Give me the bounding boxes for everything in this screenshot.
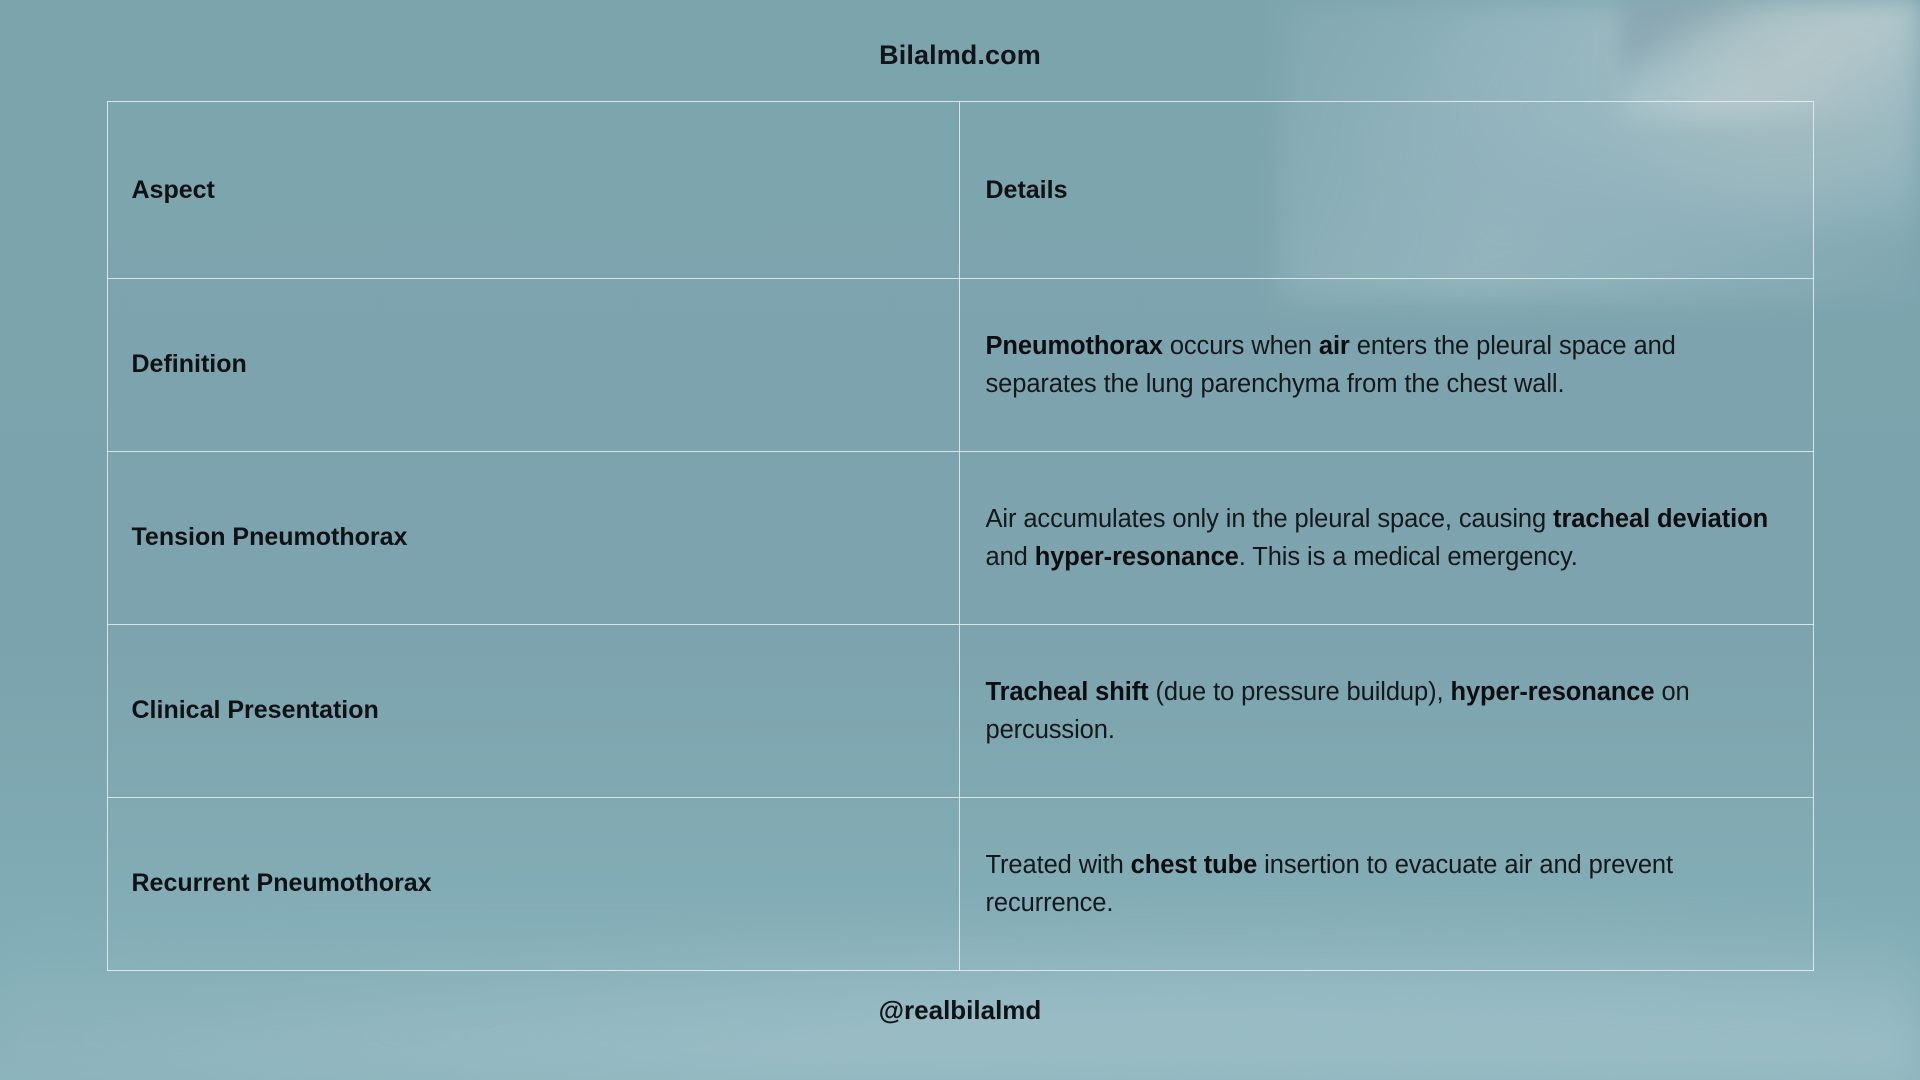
table-row: Clinical Presentation Tracheal shift (du…: [107, 625, 1813, 798]
table-header-details-label: Details: [986, 175, 1779, 205]
row-label-definition: Definition: [132, 349, 933, 380]
row-label-clinical-presentation: Clinical Presentation: [132, 695, 933, 726]
table-cell-details: Treated with chest tube insertion to eva…: [959, 798, 1813, 971]
table-header-aspect-label: Aspect: [132, 175, 933, 205]
table-cell-details: Air accumulates only in the pleural spac…: [959, 452, 1813, 625]
table-cell-details: Pneumothorax occurs when air enters the …: [959, 279, 1813, 452]
table-row: Recurrent Pneumothorax Treated with ches…: [107, 798, 1813, 971]
table-row: Definition Pneumothorax occurs when air …: [107, 279, 1813, 452]
row-details-clinical-presentation: Tracheal shift (due to pressure buildup)…: [986, 673, 1779, 750]
row-details-tension-pneumothorax: Air accumulates only in the pleural spac…: [986, 500, 1779, 577]
table-header-row: Aspect Details: [107, 102, 1813, 279]
row-label-recurrent-pneumothorax: Recurrent Pneumothorax: [132, 868, 933, 899]
table-header-details: Details: [959, 102, 1813, 279]
page-title: Bilalmd.com: [879, 42, 1041, 69]
comparison-table: Aspect Details Definition: [107, 101, 1814, 971]
table-body: Definition Pneumothorax occurs when air …: [107, 279, 1813, 971]
table-cell-aspect: Tension Pneumothorax: [107, 452, 959, 625]
slide-canvas: Bilalmd.com Aspect Details: [0, 0, 1920, 1080]
table-header-aspect: Aspect: [107, 102, 959, 279]
table-row: Tension Pneumothorax Air accumulates onl…: [107, 452, 1813, 625]
row-label-tension-pneumothorax: Tension Pneumothorax: [132, 522, 933, 553]
row-details-recurrent-pneumothorax: Treated with chest tube insertion to eva…: [986, 846, 1779, 923]
row-details-definition: Pneumothorax occurs when air enters the …: [986, 327, 1779, 404]
table-cell-aspect: Recurrent Pneumothorax: [107, 798, 959, 971]
table-cell-details: Tracheal shift (due to pressure buildup)…: [959, 625, 1813, 798]
table-cell-aspect: Definition: [107, 279, 959, 452]
table-cell-aspect: Clinical Presentation: [107, 625, 959, 798]
social-handle: @realbilalmd: [879, 997, 1042, 1023]
